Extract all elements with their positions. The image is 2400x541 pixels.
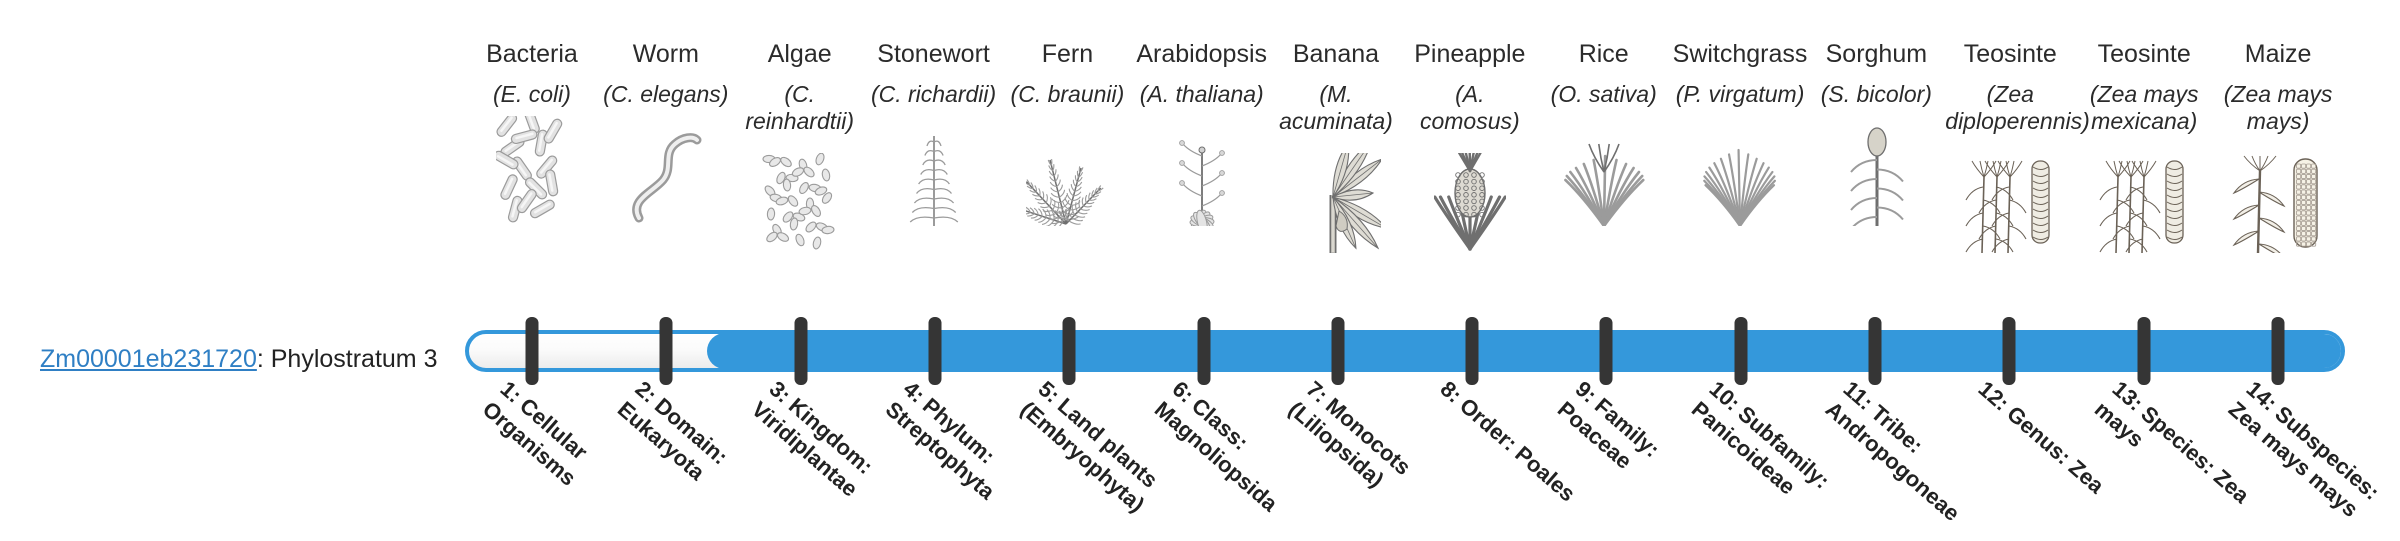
species-column: Sorghum(S. bicolor) [1809,40,1943,226]
species-common-name: Worm [633,40,699,68]
species-column: Worm(C. elegans) [599,40,733,226]
species-column: Arabidopsis(A. thaliana) [1134,40,1269,226]
timeline-fill [707,333,2343,369]
teosinte-plant-ear-icon [1964,145,2056,253]
species-column: Stonewort(C. richardii) [867,40,1001,226]
species-common-name: Teosinte [1964,40,2057,68]
species-common-name: Switchgrass [1673,40,1808,68]
species-latin-name: (A. thaliana) [1140,81,1264,108]
banana-palm-icon [1291,145,1381,253]
species-common-name: Banana [1293,40,1379,68]
stratum-name: Monocots (Liliopsida) [1284,393,1416,492]
timeline-tick[interactable] [1063,317,1076,385]
stratum-name: Domain: Eukaryota [613,393,733,485]
fern-frond-icon [1026,118,1108,226]
species-common-name: Bacteria [486,40,578,68]
species-column: Switchgrass(P. virgatum) [1671,40,1810,226]
pineapple-plant-icon [1434,145,1506,253]
sorghum-stalk-icon [1837,118,1915,226]
species-latin-name: (C. richardii) [871,81,996,108]
species-latin-name: (A. comosus) [1405,81,1535,135]
species-common-name: Maize [2245,40,2312,68]
species-common-name: Sorghum [1826,40,1927,68]
switchgrass-clump-icon [1697,118,1783,226]
species-common-name: Algae [768,40,832,68]
species-latin-name: (S. bicolor) [1821,81,1932,108]
species-column: Maize(Zea mays mays) [2211,40,2345,253]
species-header-strip: Bacteria(E. coli) [465,40,2345,310]
algae-cells-icon [762,145,838,253]
species-latin-name: (Zea mays mexicana) [2079,81,2209,135]
timeline-tick[interactable] [2137,317,2150,385]
timeline-tick[interactable] [526,317,539,385]
species-common-name: Arabidopsis [1136,40,1267,68]
species-column: Bacteria(E. coli) [465,40,599,226]
stonewort-sprig-icon [899,118,969,226]
stratum-name: Family: Poaceae [1553,393,1665,474]
timeline-tick[interactable] [660,317,673,385]
gene-accession-link[interactable]: Zm00001eb231720 [40,345,257,373]
timeline-tick[interactable] [794,317,807,385]
species-latin-name: (C. reinhardtii) [735,81,865,135]
stratum-label-layer: 1: Cellular Organisms2: Domain: Eukaryot… [465,376,2345,520]
timeline-tick[interactable] [1331,317,1344,385]
maize-plant-ear-icon [2230,145,2326,253]
timeline-tick[interactable] [2271,317,2284,385]
species-column: Algae(C. reinhardtii) [733,40,867,253]
species-common-name: Teosinte [2098,40,2191,68]
timeline-tick[interactable] [1466,317,1479,385]
timeline-track [465,330,2345,372]
phylostratum-timeline[interactable] [465,330,2345,372]
species-common-name: Pineapple [1414,40,1525,68]
timeline-tick[interactable] [929,317,942,385]
species-column: Banana(M. acuminata) [1269,40,1403,253]
nematode-worm-icon [623,118,709,226]
species-column: Fern(C. braunii) [1001,40,1135,226]
timeline-tick[interactable] [1600,317,1613,385]
species-latin-name: (C. elegans) [603,81,728,108]
species-latin-name: (M. acuminata) [1271,81,1401,135]
bacteria-rods-icon [496,118,568,226]
teosinte-plant-ear-icon [2098,145,2190,253]
stratum-name: Cellular Organisms [478,393,592,491]
species-latin-name: (P. virgatum) [1676,81,1805,108]
timeline-tick[interactable] [1197,317,1210,385]
species-common-name: Rice [1579,40,1629,68]
timeline-tick[interactable] [1734,317,1747,385]
species-latin-name: (C. braunii) [1011,81,1125,108]
species-column: Rice(O. sativa) [1537,40,1671,226]
stratum-index: 12: [1973,376,2013,416]
species-column: Pineapple(A. comosus) [1403,40,1537,253]
rice-grass-icon [1561,118,1647,226]
gene-phylostratum-text: : Phylostratum 3 [257,345,438,373]
species-latin-name: (Zea diploperennis) [1945,81,2075,135]
species-latin-name: (E. coli) [493,81,571,108]
species-latin-name: (O. sativa) [1551,81,1657,108]
timeline-tick[interactable] [1869,317,1882,385]
species-column: Teosinte(Zea mays mexicana) [2077,40,2211,253]
gene-phylostratum-label: Zm00001eb231720: Phylostratum 3 [40,345,438,374]
arabidopsis-rosette-icon [1164,118,1240,226]
timeline-tick[interactable] [2003,317,2016,385]
species-latin-name: (Zea mays mays) [2213,81,2343,135]
species-common-name: Stonewort [877,40,990,68]
species-column: Teosinte(Zea diploperennis) [1943,40,2077,253]
species-common-name: Fern [1042,40,1093,68]
